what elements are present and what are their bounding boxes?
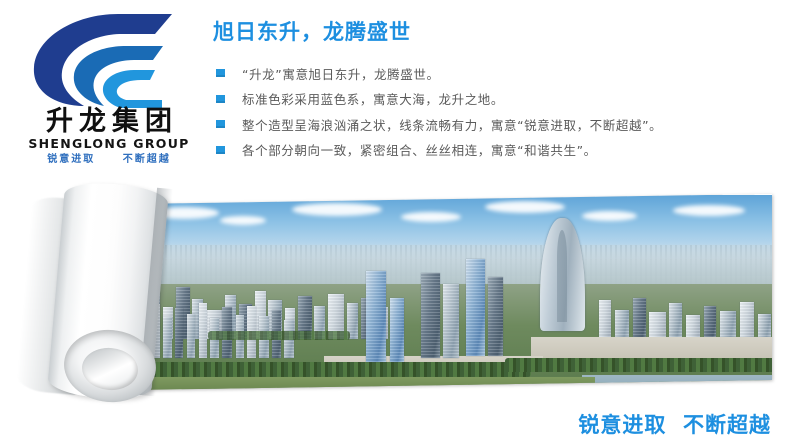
hero-glass-tower <box>366 271 387 362</box>
logo-company-name-en: SHENGLONG GROUP <box>14 138 204 151</box>
list-item: 各个部分朝向一致，紧密组合、丝丝相连，寓意“和谐共生”。 <box>214 139 784 165</box>
cloud <box>673 205 745 216</box>
feature-bullet-list: “升龙”寓意旭日东升，龙腾盛世。 标准色彩采用蓝色系，寓意大海，龙升之地。 整个… <box>214 62 784 164</box>
square-bullet-icon <box>216 120 225 128</box>
cityscape-photo <box>134 194 772 390</box>
cloud <box>582 211 637 221</box>
list-item-label: “升龙”寓意旭日东升，龙腾盛世。 <box>242 69 440 82</box>
cloud <box>292 203 382 216</box>
slab-tower <box>488 276 504 356</box>
company-logo: 升龙集团 SHENGLONG GROUP 锐意进取 不断超越 <box>14 12 204 164</box>
glass-tower <box>390 298 404 362</box>
list-item-label: 各个部分朝向一致，紧密组合、丝丝相连，寓意“和谐共生”。 <box>242 145 597 158</box>
list-item-label: 标准色彩采用蓝色系，寓意大海，龙升之地。 <box>242 94 504 107</box>
slab-tower <box>443 284 460 358</box>
square-bullet-icon <box>216 146 225 154</box>
list-item: “升龙”寓意旭日东升，龙腾盛世。 <box>214 62 784 88</box>
building-cluster-right <box>595 273 772 339</box>
slab-tower <box>466 259 485 356</box>
river <box>582 375 772 390</box>
page-title: 旭日东升，龙腾盛世 <box>213 22 411 43</box>
slab-tower <box>421 273 440 358</box>
banner-illustration <box>0 176 793 411</box>
footer-slogan: 锐意进取 不断超越 <box>578 415 771 436</box>
cloud <box>485 201 565 213</box>
tree-belt <box>134 362 531 378</box>
list-item-label: 整个造型呈海浪汹涌之状，线条流畅有力，寓意“锐意进取，不断超越”。 <box>242 120 662 133</box>
lawn <box>134 377 595 390</box>
tree-belt <box>208 331 350 341</box>
list-item: 标准色彩采用蓝色系，寓意大海，龙升之地。 <box>214 88 784 114</box>
square-bullet-icon <box>216 69 225 77</box>
tree-belt <box>505 358 772 372</box>
logo-company-name-cn: 升龙集团 <box>14 108 204 135</box>
rolled-paper-scroll <box>18 180 168 408</box>
square-bullet-icon <box>216 95 225 103</box>
shenglong-wave-logo-icon <box>22 12 194 108</box>
logo-tagline: 锐意进取 不断超越 <box>14 155 204 165</box>
list-item: 整个造型呈海浪汹涌之状，线条流畅有力，寓意“锐意进取，不断超越”。 <box>214 113 784 139</box>
